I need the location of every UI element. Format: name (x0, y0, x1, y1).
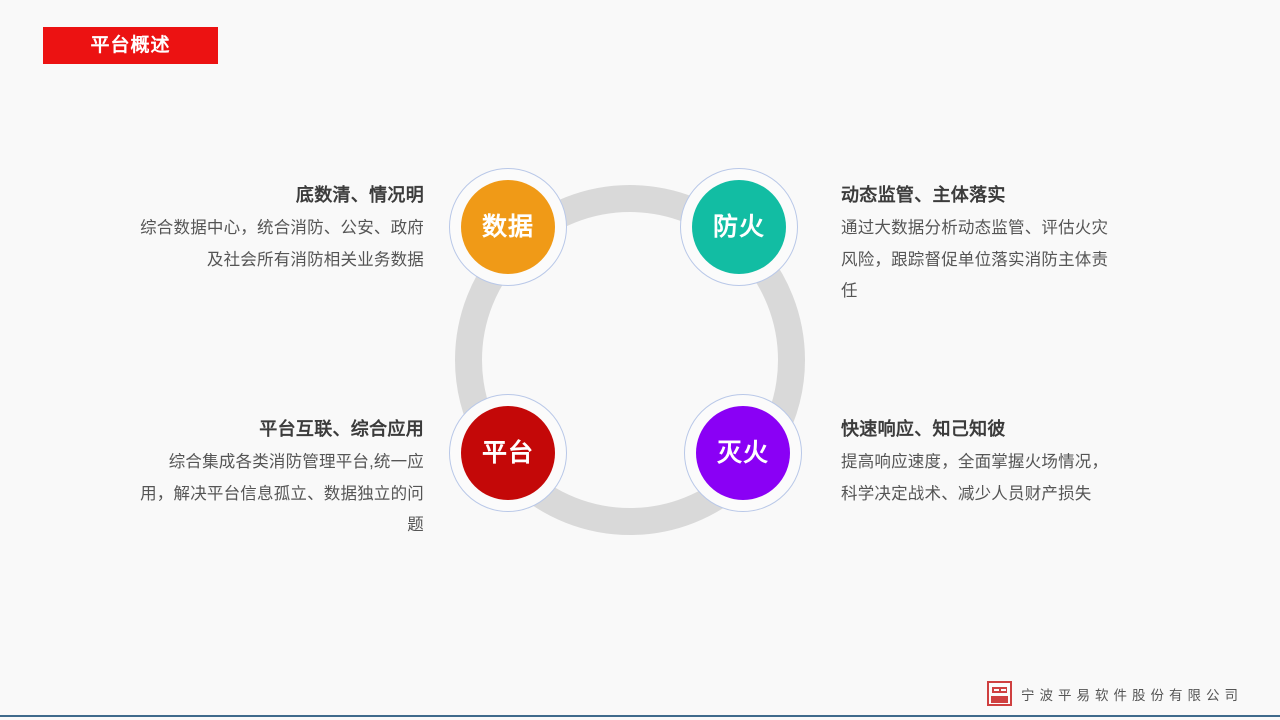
text-block-bottom-left-heading: 平台互联、综合应用 (140, 418, 424, 441)
diagram-node-fire-prevention-disc: 防火 (692, 180, 786, 274)
diagram-node-fire-fighting[interactable]: 灭火 (684, 394, 802, 512)
diagram-node-fire-prevention-label: 防火 (713, 215, 765, 240)
diagram-node-fire-fighting-label: 灭火 (717, 441, 769, 466)
text-block-bottom-left: 平台互联、综合应用 综合集成各类消防管理平台,统一应用，解决平台信息孤立、数据独… (140, 418, 424, 541)
diagram-node-platform-disc: 平台 (461, 406, 555, 500)
diagram-node-fire-fighting-disc: 灭火 (696, 406, 790, 500)
footer: 宁波平易软件股份有限公司 (987, 681, 1243, 706)
page-title: 平台概述 (90, 36, 170, 55)
text-block-bottom-left-body: 综合集成各类消防管理平台,统一应用，解决平台信息孤立、数据独立的问题 (140, 447, 424, 541)
bottom-rule (0, 715, 1280, 717)
diagram-node-platform-label: 平台 (482, 441, 534, 466)
cycle-diagram: 数据 防火 平台 灭火 (447, 168, 813, 550)
seal-stroke (999, 687, 1001, 693)
text-block-bottom-right: 快速响应、知己知彼 提高响应速度，全面掌握火场情况，科学决定战术、减少人员财产损… (841, 418, 1111, 510)
company-seal-icon (987, 681, 1012, 706)
company-name: 宁波平易软件股份有限公司 (1021, 684, 1243, 704)
text-block-top-right-heading: 动态监管、主体落实 (841, 184, 1111, 207)
seal-stroke (1006, 687, 1008, 693)
diagram-node-data-disc: 数据 (461, 180, 555, 274)
text-block-top-left: 底数清、情况明 综合数据中心，统合消防、公安、政府及社会所有消防相关业务数据 (140, 184, 424, 276)
text-block-top-right: 动态监管、主体落实 通过大数据分析动态监管、评估火灾风险，跟踪督促单位落实消防主… (841, 184, 1111, 307)
text-block-top-right-body: 通过大数据分析动态监管、评估火灾风险，跟踪督促单位落实消防主体责任 (841, 213, 1111, 307)
diagram-node-platform[interactable]: 平台 (449, 394, 567, 512)
text-block-bottom-right-body: 提高响应速度，全面掌握火场情况，科学决定战术、减少人员财产损失 (841, 447, 1111, 510)
seal-stroke (992, 687, 994, 693)
diagram-node-data[interactable]: 数据 (449, 168, 567, 286)
text-block-top-left-heading: 底数清、情况明 (140, 184, 424, 207)
page-title-badge: 平台概述 (43, 27, 218, 64)
diagram-node-data-label: 数据 (482, 215, 534, 240)
diagram-node-fire-prevention[interactable]: 防火 (680, 168, 798, 286)
seal-stroke (991, 696, 1008, 703)
text-block-top-left-body: 综合数据中心，统合消防、公安、政府及社会所有消防相关业务数据 (140, 213, 424, 276)
text-block-bottom-right-heading: 快速响应、知己知彼 (841, 418, 1111, 441)
